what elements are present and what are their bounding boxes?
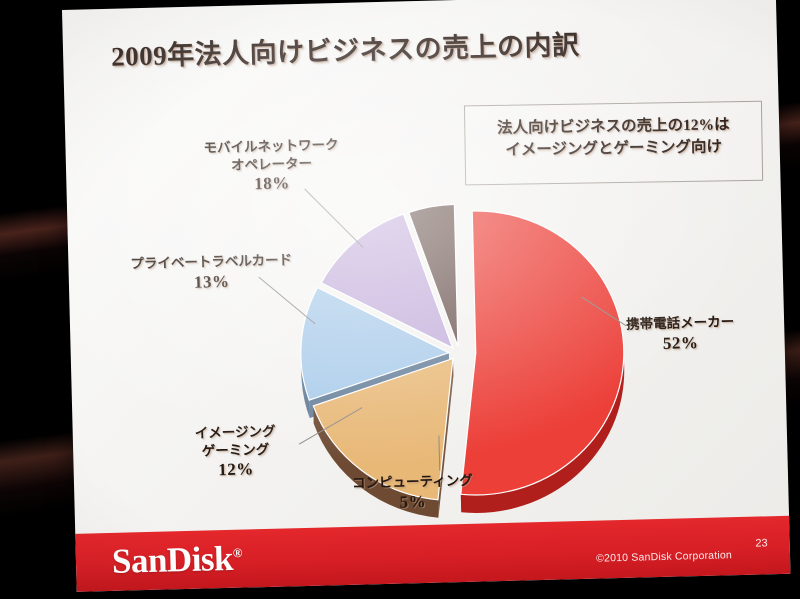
pie-label-imaging-line2: ゲーミング [202,441,270,458]
slide-surface: 2009年法人向けビジネスの売上の内訳 法人向けビジネスの売上の12%は イメー… [62,0,790,592]
pie-label-imaging-line1: イメージング [195,424,276,441]
copyright-notice: ©2010 SanDisk Corporation [596,549,732,564]
pie-label-private-label-card: プライベートラベルカード 13% [130,251,293,295]
pie-slice-1 [454,207,628,495]
pie-label-handset-makers-value: 52% [626,331,735,356]
pie-label-handset-makers: 携帯電話メーカー 52% [626,313,735,355]
pie-label-plc-value: 13% [131,269,293,295]
pie-label-mobile-network-operators: モバイルネットワーク オペレーター 18% [203,136,339,197]
pie-label-mno-line1: モバイルネットワーク [203,137,338,155]
pie-label-imaging-value: 12% [195,458,276,482]
pie-label-mno-line2: オペレーター [231,155,312,172]
projected-slide-photo: 2009年法人向けビジネスの売上の内訳 法人向けビジネスの売上の12%は イメー… [0,0,800,599]
pie-label-computing-value: 5% [352,489,473,514]
pie-label-plc-text: プライベートラベルカード [130,252,292,271]
pie-label-handset-makers-text: 携帯電話メーカー [626,314,734,332]
presentation-slide: 2009年法人向けビジネスの売上の内訳 法人向けビジネスの売上の12%は イメー… [62,0,790,592]
pie-label-computing: コンピューティング 5% [352,472,474,515]
pie-label-mno-value: 18% [204,171,340,197]
pie-label-imaging-gaming: イメージング ゲーミング 12% [195,423,277,482]
page-number: 23 [755,537,768,549]
trademark-icon: ® [233,545,243,560]
pie-label-computing-text: コンピューティング [352,473,473,491]
sandisk-logo: SanDisk® [111,539,242,582]
sandisk-logo-text: SanDisk [111,539,233,581]
